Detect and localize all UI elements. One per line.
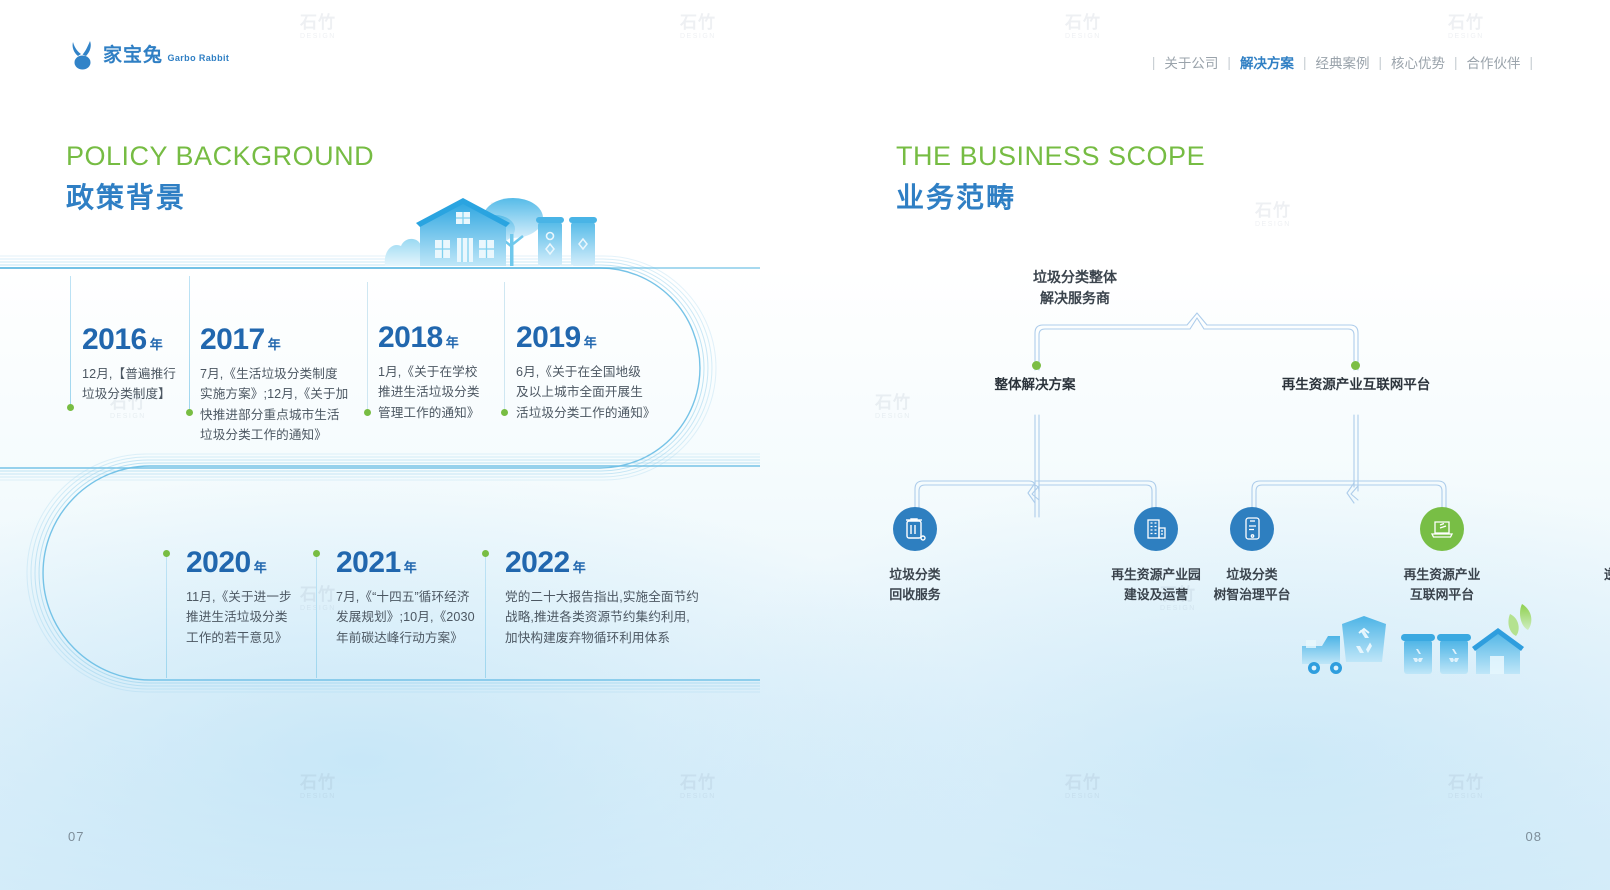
- timeline-year: 2019年: [516, 323, 668, 353]
- timeline-year: 2020年: [186, 548, 314, 578]
- timeline-year: 2017年: [200, 325, 358, 355]
- business-scope-title: THE BUSINESS SCOPE 业务范畴: [896, 141, 1205, 216]
- scope-item-internet-platform[interactable]: 再生资源产业 互联网平台: [1372, 507, 1512, 605]
- house-and-bins-illustration: [383, 196, 598, 268]
- timeline-desc: 12月,【普遍推行 垃圾分类制度】: [82, 364, 187, 405]
- top-navigation[interactable]: |关于公司|解决方案|经典案例|核心优势|合作伙伴|: [1143, 52, 1542, 72]
- timeline-desc: 6月,《关于在全国地级 及以上城市全面开展生 活垃圾分类工作的通知》: [516, 362, 668, 423]
- slide-page: 石竹DESIGN石竹DESIGN石竹DESIGN石竹DESIGN石竹DESIGN…: [0, 0, 1610, 890]
- section-title-en: THE BUSINESS SCOPE: [896, 141, 1205, 172]
- brand-name-cn: 家宝兔: [103, 45, 163, 66]
- page-header: 家宝兔 Garbo Rabbit |关于公司|解决方案|经典案例|核心优势|合作…: [0, 0, 1610, 95]
- section-title-cn: 业务范畴: [896, 176, 1205, 216]
- scope-item-label: 垃圾分类 回收服务: [845, 565, 985, 605]
- timeline-item-2019[interactable]: 2019年 6月,《关于在全国地级 及以上城市全面开展生 活垃圾分类工作的通知》: [516, 323, 668, 423]
- org-branch-dot: [1032, 361, 1041, 370]
- timeline-desc: 党的二十大报告指出,实施全面节约 战略,推进各类资源节约集约利用, 加快构建废弃…: [505, 587, 720, 648]
- timeline-dot: [313, 550, 320, 557]
- watermark: 石竹DESIGN: [300, 768, 336, 800]
- timeline-stem: [70, 276, 71, 407]
- scope-item-reverse-supply-chain[interactable]: 逆向供应链: [1566, 507, 1610, 585]
- org-branch-label-1[interactable]: 整体解决方案: [945, 373, 1125, 393]
- timeline-stem: [316, 556, 317, 678]
- nav-item-3[interactable]: 核心优势: [1391, 52, 1445, 72]
- timeline-dot: [186, 409, 193, 416]
- watermark: 石竹DESIGN: [680, 768, 716, 800]
- brand-name-en: Garbo Rabbit: [167, 53, 229, 63]
- scope-item-label: 垃圾分类 树智治理平台: [1182, 565, 1322, 605]
- timeline-item-2022[interactable]: 2022年 党的二十大报告指出,实施全面节约 战略,推进各类资源节约集约利用, …: [505, 548, 720, 648]
- nav-separator: |: [1218, 55, 1240, 70]
- watermark: 石竹DESIGN: [1448, 768, 1484, 800]
- nav-item-2[interactable]: 经典案例: [1315, 52, 1369, 72]
- section-title-en: POLICY BACKGROUND: [66, 141, 374, 172]
- mobile-phone-icon: [1230, 507, 1274, 551]
- timeline-dot: [67, 404, 74, 411]
- scope-item-smart-governance[interactable]: 垃圾分类 树智治理平台: [1182, 507, 1322, 605]
- timeline-item-2020[interactable]: 2020年 11月,《关于进一步 推进生活垃圾分类 工作的若干意见》: [186, 548, 314, 648]
- org-branch-label-2[interactable]: 再生资源产业互联网平台: [1266, 373, 1446, 393]
- timeline-year: 2022年: [505, 548, 720, 578]
- watermark: 石竹DESIGN: [1255, 196, 1291, 228]
- timeline-desc: 11月,《关于进一步 推进生活垃圾分类 工作的若干意见》: [186, 587, 314, 648]
- timeline-item-2017[interactable]: 2017年 7月,《生活垃圾分类制度 实施方案》;12月,《关于加 快推进部分重…: [200, 325, 358, 446]
- timeline-desc: 7月,《生活垃圾分类制度 实施方案》;12月,《关于加 快推进部分重点城市生活 …: [200, 364, 358, 446]
- policy-background-title: POLICY BACKGROUND 政策背景: [66, 141, 374, 216]
- timeline-item-2018[interactable]: 2018年 1月,《关于在学校 推进生活垃圾分类 管理工作的通知》: [378, 323, 506, 423]
- timeline-item-2021[interactable]: 2021年 7月,《“十四五”循环经济 发展规划》;10月,《2030 年前碳达…: [336, 548, 488, 648]
- nav-item-1[interactable]: 解决方案: [1240, 52, 1294, 72]
- timeline-year: 2016年: [82, 325, 187, 355]
- scope-item-label: 逆向供应链: [1566, 565, 1610, 585]
- timeline-year: 2021年: [336, 548, 488, 578]
- nav-separator: |: [1294, 55, 1316, 70]
- trash-bin-icon: [893, 507, 937, 551]
- timeline-dot: [482, 550, 489, 557]
- nav-item-0[interactable]: 关于公司: [1164, 52, 1218, 72]
- timeline-item-2016[interactable]: 2016年 12月,【普遍推行 垃圾分类制度】: [82, 325, 187, 405]
- org-root-label: 垃圾分类整体 解决服务商: [965, 267, 1185, 309]
- nav-separator: |: [1143, 55, 1165, 70]
- nav-separator: |: [1445, 55, 1467, 70]
- building-icon: [1134, 507, 1178, 551]
- nav-separator: |: [1520, 55, 1542, 70]
- page-number-left: 07: [68, 829, 84, 844]
- rabbit-logo-icon: [70, 40, 96, 70]
- page-number-right: 08: [1526, 829, 1542, 844]
- org-branch-dot: [1351, 361, 1360, 370]
- scope-item-label: 再生资源产业 互联网平台: [1372, 565, 1512, 605]
- timeline-divider: [367, 282, 368, 412]
- section-title-cn: 政策背景: [66, 176, 374, 216]
- timeline-dot: [163, 550, 170, 557]
- timeline-desc: 1月,《关于在学校 推进生活垃圾分类 管理工作的通知》: [378, 362, 506, 423]
- timeline-dot: [364, 409, 371, 416]
- business-scope-diagram: 垃圾分类整体 解决服务商 整体解决方案 再生资源产业互联网平台 垃圾分类 回收服…: [860, 255, 1560, 675]
- watermark: 石竹DESIGN: [1065, 768, 1101, 800]
- nav-separator: |: [1369, 55, 1391, 70]
- timeline-desc: 7月,《“十四五”循环经济 发展规划》;10月,《2030 年前碳达峰行动方案》: [336, 587, 488, 648]
- brand-logo[interactable]: 家宝兔 Garbo Rabbit: [70, 40, 229, 70]
- timeline-year: 2018年: [378, 323, 506, 353]
- laptop-icon: [1420, 507, 1464, 551]
- timeline-stem: [166, 556, 167, 678]
- timeline-dot: [501, 409, 508, 416]
- nav-item-4[interactable]: 合作伙伴: [1466, 52, 1520, 72]
- scope-item-garbage-recycling[interactable]: 垃圾分类 回收服务: [845, 507, 985, 605]
- timeline-stem: [189, 276, 190, 412]
